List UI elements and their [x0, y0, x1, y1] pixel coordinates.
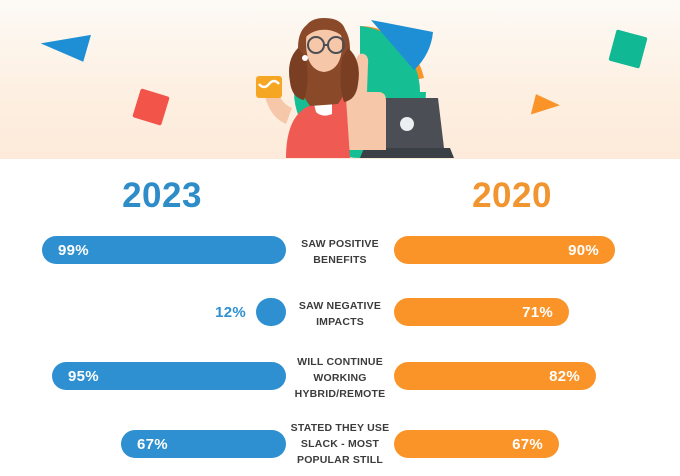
row-label-line: STATED THEY USE [288, 420, 392, 436]
bar-value-2023: 99% [58, 242, 89, 259]
row-label: SAW NEGATIVEIMPACTS [288, 298, 392, 330]
triangle-icon-blue [39, 22, 91, 62]
bar-value-2020: 71% [522, 304, 553, 321]
row-label-line: WILL CONTINUE [288, 354, 392, 370]
row-label: WILL CONTINUEWORKINGHYBRID/REMOTE [288, 354, 392, 402]
row-label-line: SLACK - MOST [288, 436, 392, 452]
bar-2023-row1[interactable]: 99% [42, 236, 286, 264]
bar-2020-row3[interactable]: 82% [394, 362, 596, 390]
row-label-line: SAW NEGATIVE [288, 298, 392, 314]
triangle-icon-orange [531, 94, 561, 121]
column-heading-2020: 2020 [412, 176, 612, 216]
bar-2020-row1[interactable]: 90% [394, 236, 615, 264]
bar-value-2020: 90% [568, 242, 599, 259]
square-icon-teal [608, 29, 647, 68]
row-label-line: WORKING [288, 370, 392, 386]
row-label: STATED THEY USESLACK - MOSTPOPULAR STILL [288, 420, 392, 468]
bar-value-2023: 95% [68, 368, 99, 385]
illustration-woman-with-laptop [228, 0, 468, 159]
square-icon-red [132, 88, 169, 125]
bar-value-2020: 67% [512, 436, 543, 453]
bar-value-2020: 82% [549, 368, 580, 385]
bar-2023-row4[interactable]: 67% [121, 430, 286, 458]
bar-2023-row3[interactable]: 95% [52, 362, 286, 390]
bar-2023-row2[interactable] [256, 298, 286, 326]
row-label-line: POPULAR STILL [288, 452, 392, 468]
bar-value-2023: 12% [215, 304, 246, 321]
header-banner [0, 0, 680, 159]
column-heading-2023: 2023 [62, 176, 262, 216]
bar-2020-row2[interactable]: 71% [394, 298, 569, 326]
bar-value-2023: 67% [137, 436, 168, 453]
row-label-line: BENEFITS [288, 252, 392, 268]
row-label-line: SAW POSITIVE [288, 236, 392, 252]
row-label-line: HYBRID/REMOTE [288, 386, 392, 402]
row-label-line: IMPACTS [288, 314, 392, 330]
row-label: SAW POSITIVEBENEFITS [288, 236, 392, 268]
bar-2020-row4[interactable]: 67% [394, 430, 559, 458]
